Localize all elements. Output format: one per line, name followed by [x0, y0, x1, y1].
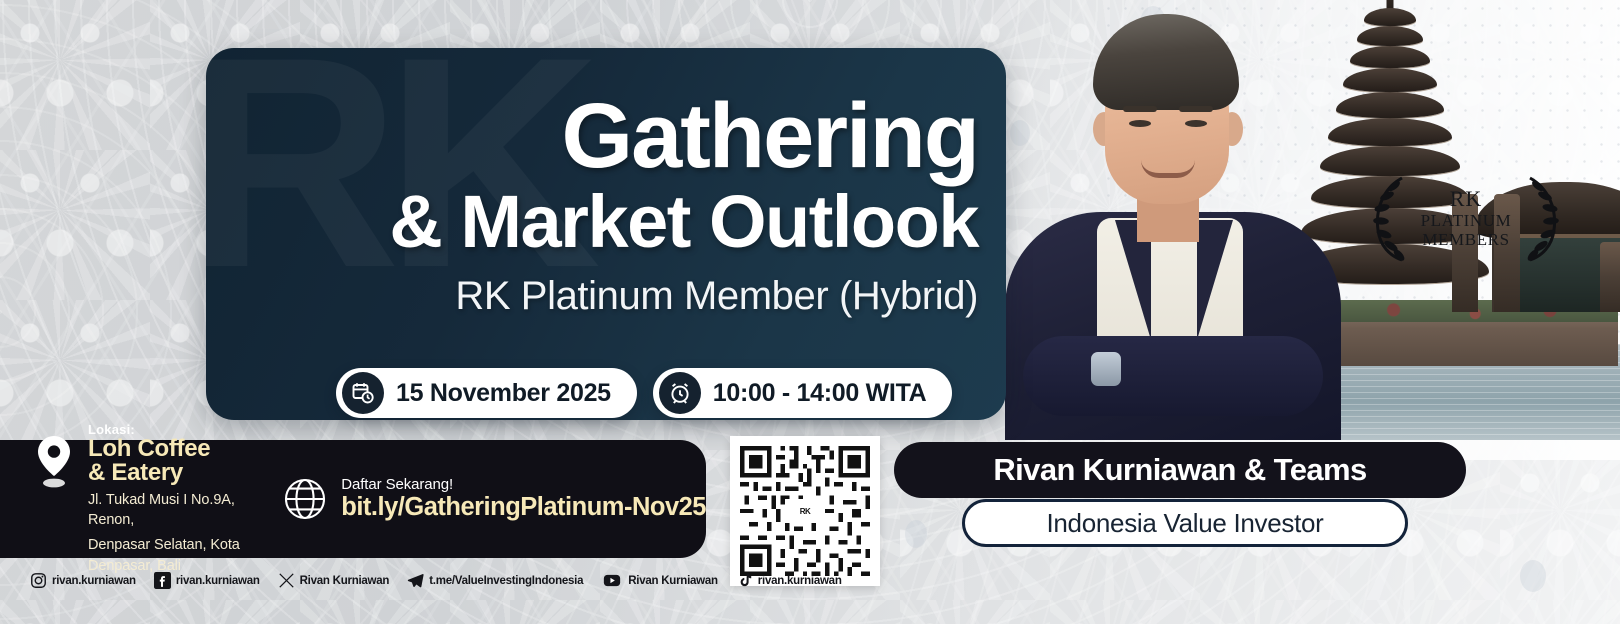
globe-icon	[283, 477, 327, 521]
social-item-youtube[interactable]: Rivan Kurniawan	[601, 572, 718, 589]
presenter-eye	[1185, 120, 1207, 127]
instagram-icon	[30, 572, 47, 589]
social-media-bar: rivan.kurniawan rivan.kurniawan Rivan Ku…	[30, 572, 842, 589]
event-title-line-2: & Market Outlook	[206, 182, 978, 262]
x-twitter-icon	[278, 572, 295, 589]
social-item-facebook[interactable]: rivan.kurniawan	[154, 572, 260, 589]
event-title-line-1: Gathering	[206, 92, 978, 180]
map-pin-icon	[32, 434, 76, 490]
registration-url[interactable]: bit.ly/GatheringPlatinum-Nov25	[341, 493, 706, 522]
social-item-instagram[interactable]: rivan.kurniawan	[30, 572, 136, 589]
registration-block[interactable]: Daftar Sekarang! bit.ly/GatheringPlatinu…	[283, 476, 706, 522]
presenter-tagline-pill: Indonesia Value Investor	[962, 499, 1408, 547]
presenter-name-pill: Rivan Kurniawan & Teams	[894, 442, 1466, 498]
badge-text: RK PLATINUM MEMBERS	[1421, 187, 1512, 250]
presenter-tagline: Indonesia Value Investor	[1046, 508, 1323, 539]
registration-label: Daftar Sekarang!	[341, 476, 706, 493]
qr-center-logo: RK	[785, 499, 825, 523]
alarm-clock-icon	[659, 372, 701, 414]
presenter-hair	[1093, 14, 1239, 110]
temple-shrine-statue	[1600, 242, 1620, 312]
venue-address-line-1: Jl. Tukad Musi I No.9A, Renon,	[88, 490, 249, 531]
laurel-wreath-left-icon	[1372, 174, 1406, 262]
location-block: Lokasi: Loh Coffee & Eatery Jl. Tukad Mu…	[0, 422, 249, 576]
presenter-eye	[1129, 120, 1151, 127]
event-date: 15 November 2025	[396, 379, 611, 408]
location-text: Lokasi: Loh Coffee & Eatery Jl. Tukad Mu…	[88, 422, 249, 576]
temple-tier	[1357, 26, 1423, 46]
social-handle: rivan.kurniawan	[176, 575, 260, 587]
date-pill: 15 November 2025	[336, 368, 637, 418]
tiktok-icon	[736, 572, 753, 589]
venue-name-line-1: Loh Coffee	[88, 437, 249, 461]
calendar-clock-icon	[342, 372, 384, 414]
title-panel-content: Gathering & Market Outlook RK Platinum M…	[206, 48, 1006, 319]
venue-address-line-2: Denpasar Selatan, Kota Denpasar, Bali	[88, 535, 249, 576]
social-handle: Rivan Kurniawan	[628, 575, 718, 587]
decorative-blob	[1520, 560, 1546, 592]
event-time: 10:00 - 14:00 WITA	[713, 379, 927, 408]
badge-line-3: MEMBERS	[1421, 230, 1512, 249]
event-subtitle: RK Platinum Member (Hybrid)	[206, 274, 978, 319]
social-item-tiktok[interactable]: rivan.kurniawan	[736, 572, 842, 589]
presenter-eyebrow	[1179, 106, 1213, 112]
facebook-icon	[154, 572, 171, 589]
time-pill: 10:00 - 14:00 WITA	[653, 368, 953, 418]
blazer-lapel-right	[1197, 220, 1233, 340]
qr-matrix: RK	[740, 446, 870, 576]
badge-line-1: RK	[1421, 187, 1512, 212]
badge-line-2: PLATINUM	[1421, 211, 1512, 230]
title-panel: RK Gathering & Market Outlook RK Platinu…	[206, 48, 1006, 420]
social-handle: t.me/ValueInvestingIndonesia	[429, 575, 583, 587]
platinum-members-badge: RK PLATINUM MEMBERS	[1378, 170, 1554, 266]
registration-text: Daftar Sekarang! bit.ly/GatheringPlatinu…	[341, 476, 706, 522]
temple-tier	[1364, 8, 1416, 26]
social-handle: rivan.kurniawan	[758, 575, 842, 587]
presenter-wristwatch	[1091, 352, 1121, 386]
youtube-icon	[601, 572, 623, 589]
social-handle: rivan.kurniawan	[52, 575, 136, 587]
schedule-pills: 15 November 2025 10:00 - 14:00 WITA	[336, 368, 952, 418]
event-banner: RK PLATINUM MEMBERS RK Gatheri	[0, 0, 1620, 624]
presenter-eyebrow	[1123, 106, 1157, 112]
venue-info-panel: Lokasi: Loh Coffee & Eatery Jl. Tukad Mu…	[0, 440, 706, 558]
presenter-photo	[965, 0, 1365, 440]
laurel-wreath-right-icon	[1526, 174, 1560, 262]
social-item-telegram[interactable]: t.me/ValueInvestingIndonesia	[407, 572, 583, 589]
social-handle: Rivan Kurniawan	[300, 575, 390, 587]
presenter-crossed-arms	[1023, 336, 1323, 416]
social-item-x-twitter[interactable]: Rivan Kurniawan	[278, 572, 390, 589]
decorative-blob	[905, 520, 927, 548]
venue-name-line-2: & Eatery	[88, 461, 249, 485]
telegram-icon	[407, 572, 424, 589]
presenter-name: Rivan Kurniawan & Teams	[993, 452, 1366, 488]
qr-code[interactable]: RK	[730, 436, 880, 586]
